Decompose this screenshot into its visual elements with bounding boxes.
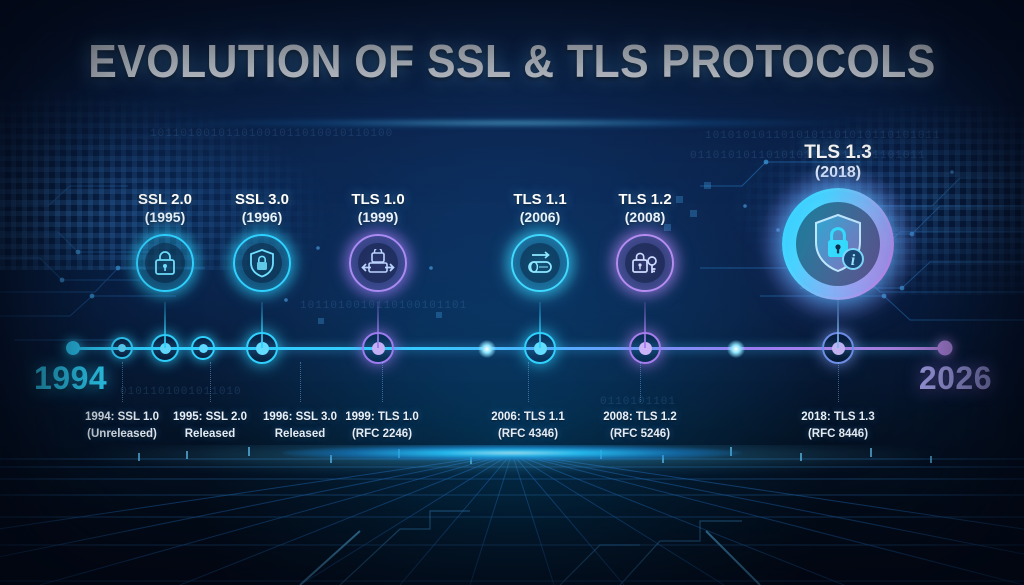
axis-marker[interactable] <box>191 336 215 360</box>
timeline-end-year: 2026 <box>919 360 992 397</box>
caption-line-1: 1999: TLS 1.0 <box>345 409 419 426</box>
axis-marker[interactable] <box>938 341 953 356</box>
caption-line-2: Released <box>263 426 337 443</box>
node-label: TLS 1.0 <box>349 192 407 209</box>
caption-line-2: (RFC 4346) <box>491 426 565 443</box>
binary-text: 1010101011010101101010110101011 <box>705 130 941 142</box>
caption-line-2: (RFC 8446) <box>801 426 875 443</box>
caption-line-1: 2008: TLS 1.2 <box>603 409 677 426</box>
node-stem <box>644 302 646 348</box>
axis-spark <box>478 340 496 358</box>
shield-lock-icon <box>248 248 276 278</box>
timeline-node-ssl20[interactable]: SSL 2.0 (1995) <box>136 192 194 292</box>
caption-tick <box>838 362 840 402</box>
node-stem <box>261 302 263 348</box>
node-stem <box>539 302 541 348</box>
caption-line-2: Released <box>173 426 247 443</box>
node-label: TLS 1.2 <box>616 192 674 209</box>
caption-line-2: (RFC 2246) <box>345 426 419 443</box>
timeline-start-year: 1994 <box>34 360 107 397</box>
caption-line-2: (Unreleased) <box>85 426 159 443</box>
infographic-canvas: 10110100101101001011010010110100 1010101… <box>0 0 1024 585</box>
caption-line-1: 1996: SSL 3.0 <box>263 409 337 426</box>
axis-marker[interactable] <box>111 337 133 359</box>
padlock-icon <box>152 249 178 277</box>
timeline-node-tls11[interactable]: TLS 1.1 (2006) <box>511 192 569 292</box>
timeline-node-tls12[interactable]: TLS 1.2 (2008) <box>616 192 674 292</box>
caption-item: 1999: TLS 1.0 (RFC 2246) <box>345 409 419 442</box>
page-title: EVOLUTION OF SSL & TLS PROTOCOLS <box>36 38 988 84</box>
caption-tick <box>122 362 124 402</box>
shield-lock-info-icon: i <box>805 211 871 277</box>
timeline-node-tls10[interactable]: TLS 1.0 (1999) <box>349 192 407 292</box>
node-label: SSL 3.0 <box>233 192 291 209</box>
node-label: TLS 1.1 <box>511 192 569 209</box>
axis-spark <box>727 340 745 358</box>
lock-key-icon <box>629 249 661 277</box>
caption-tick <box>300 362 302 402</box>
caption-item: 2006: TLS 1.1 (RFC 4346) <box>491 409 565 442</box>
svg-text:i: i <box>851 252 856 269</box>
binary-text: 0110101101 <box>600 396 676 408</box>
binary-text: 0101101001011010 <box>120 386 242 398</box>
timeline-node-tls13[interactable]: TLS 1.3 (2018) i <box>782 142 894 300</box>
lock-exchange-icon <box>361 249 395 277</box>
node-label: SSL 2.0 <box>136 192 194 209</box>
caption-item: 1996: SSL 3.0 Released <box>263 409 337 442</box>
axis-marker[interactable] <box>66 341 80 355</box>
caption-line-1: 2018: TLS 1.3 <box>801 409 875 426</box>
node-label: TLS 1.3 <box>782 142 894 163</box>
secure-channel-icon <box>523 249 557 277</box>
caption-tick <box>528 362 530 402</box>
caption-item: 1995: SSL 2.0 Released <box>173 409 247 442</box>
perspective-grid-floor <box>0 445 1024 585</box>
caption-line-1: 2006: TLS 1.1 <box>491 409 565 426</box>
caption-tick <box>640 362 642 402</box>
caption-tick <box>382 362 384 402</box>
caption-item: 2008: TLS 1.2 (RFC 5246) <box>603 409 677 442</box>
node-stem <box>377 302 379 348</box>
timeline-node-ssl30[interactable]: SSL 3.0 (1996) <box>233 192 291 292</box>
caption-line-1: 1994: SSL 1.0 <box>85 409 159 426</box>
node-stem <box>164 302 166 348</box>
title-underglow <box>162 118 862 128</box>
caption-item: 1994: SSL 1.0 (Unreleased) <box>85 409 159 442</box>
caption-tick <box>210 362 212 402</box>
caption-line-2: (RFC 5246) <box>603 426 677 443</box>
caption-item: 2018: TLS 1.3 (RFC 8446) <box>801 409 875 442</box>
binary-text: 10110100101101001011010010110100 <box>150 128 393 140</box>
caption-line-1: 1995: SSL 2.0 <box>173 409 247 426</box>
